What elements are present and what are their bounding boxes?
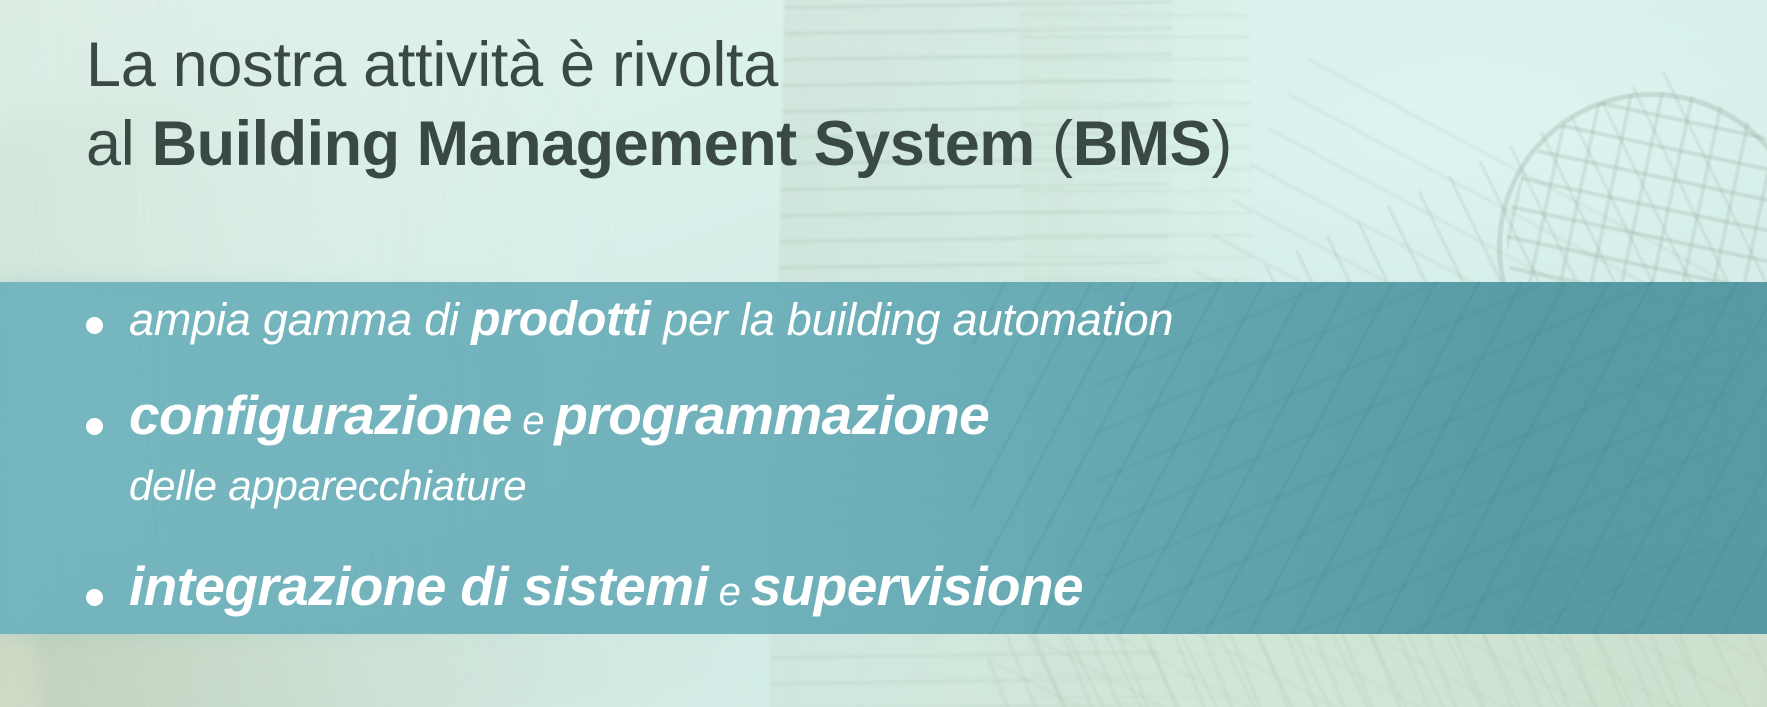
bullet-2-conjunction: e [512,399,555,443]
bullet-1-emphasis: prodotti [471,293,651,346]
list-item: ampia gamma di prodotti per la building … [86,296,1686,344]
bullet-3-lead: integrazione di sistemi [129,555,708,617]
bullet-3-text: integrazione di sistemi e supervisione [129,559,1686,614]
bullet-2-emphasis: programmazione [554,384,989,446]
headline-paren-close: ) [1211,109,1232,179]
bullet-2-text: configurazione e programmazione [129,388,1686,443]
bullet-3-emphasis: supervisione [751,555,1083,617]
headline-acronym: BMS [1073,109,1212,179]
bullet-dot-icon [86,418,103,435]
list-item: configurazione e programmazione [86,388,1686,443]
bullet-1-tail: per la building automation [651,294,1173,345]
page-title: La nostra attività è rivolta al Building… [86,26,1586,184]
bullet-1-lead: ampia gamma di [129,294,471,345]
bullet-dot-icon [86,589,103,606]
headline-prefix: al [86,109,152,179]
headline-line-2: al Building Management System (BMS) [86,105,1586,184]
headline-paren-open: ( [1035,109,1073,179]
headline-bold-phrase: Building Management System [152,109,1035,179]
bullet-dot-icon [86,317,103,334]
headline-line-1: La nostra attività è rivolta [86,26,1586,105]
bullet-3-conjunction: e [708,570,751,614]
slide-root: La nostra attività è rivolta al Building… [0,0,1767,707]
bullet-1-text: ampia gamma di prodotti per la building … [129,296,1686,344]
list-item: integrazione di sistemi e supervisione [86,559,1686,614]
bullet-list: ampia gamma di prodotti per la building … [86,296,1686,614]
bullet-2-lead: configurazione [129,384,512,446]
bullet-2-subline: delle apparecchiature [129,465,1686,507]
